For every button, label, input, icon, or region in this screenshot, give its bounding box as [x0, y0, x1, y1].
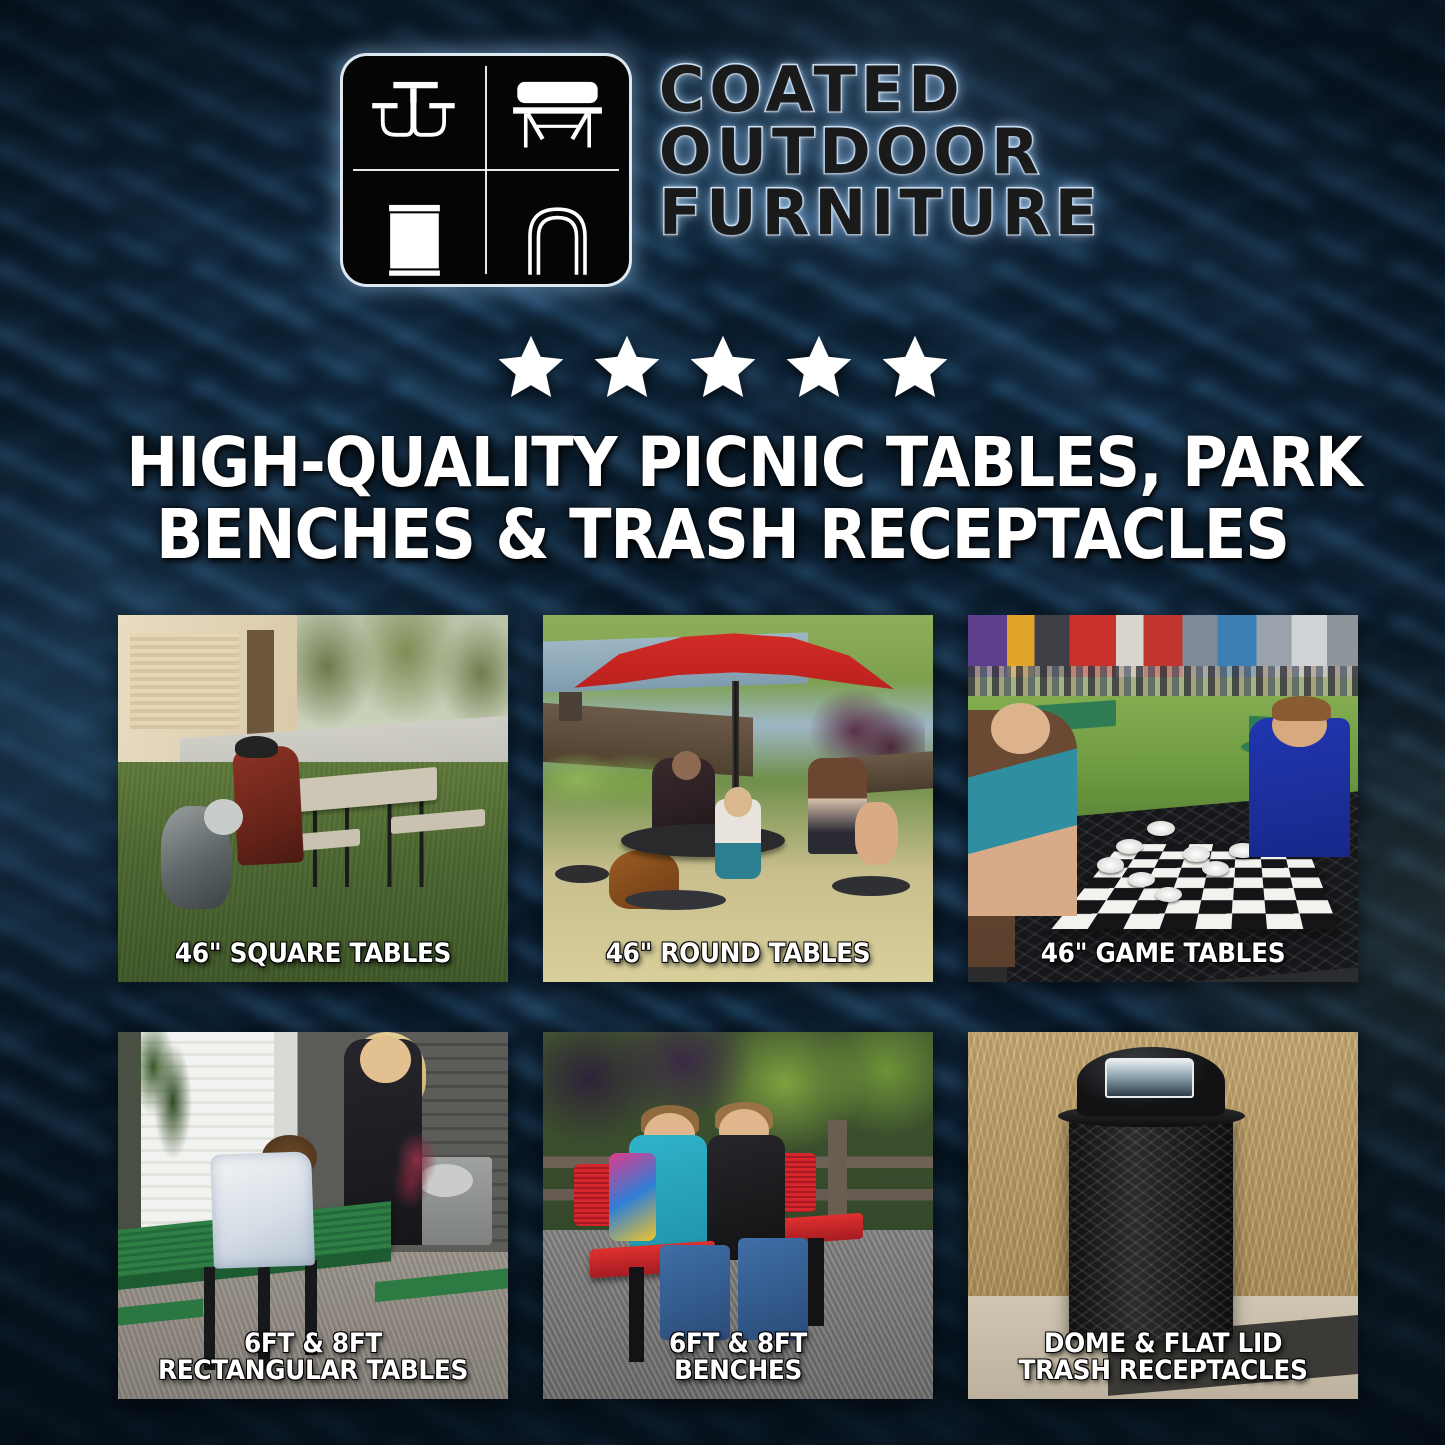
caption-line-1: 46" SQUARE TABLES — [139, 940, 487, 968]
trash-receptacle-icon — [343, 179, 486, 302]
product-tile-round-tables[interactable]: 46" ROUND TABLES — [543, 615, 933, 982]
product-caption: 46" SQUARE TABLES — [139, 940, 487, 968]
caption-line-1: 6FT & 8FT — [564, 1330, 912, 1358]
product-tile-rectangular-tables[interactable]: 6FT & 8FT RECTANGULAR TABLES — [118, 1032, 508, 1399]
product-caption: DOME & FLAT LID TRASH RECEPTACLES — [989, 1330, 1337, 1385]
star-icon — [591, 331, 663, 403]
rating-stars — [0, 331, 1445, 403]
star-icon — [783, 331, 855, 403]
product-tile-square-tables[interactable]: 46" SQUARE TABLES — [118, 615, 508, 982]
brand-logo: COATED OUTDOOR FURNITURE — [0, 56, 1445, 284]
product-photo-game-tables — [968, 615, 1358, 982]
caption-line-2: BENCHES — [564, 1357, 912, 1385]
caption-line-2: RECTANGULAR TABLES — [139, 1357, 487, 1385]
star-icon — [879, 331, 951, 403]
logo-word-furniture: FURNITURE — [659, 183, 1102, 243]
caption-line-1: DOME & FLAT LID — [989, 1330, 1337, 1358]
star-icon — [687, 331, 759, 403]
logo-wordmark: COATED OUTDOOR FURNITURE — [659, 56, 1102, 243]
product-tile-game-tables[interactable]: 46" GAME TABLES — [968, 615, 1358, 982]
product-caption: 46" GAME TABLES — [989, 940, 1337, 968]
caption-line-1: 46" GAME TABLES — [989, 940, 1337, 968]
product-caption: 6FT & 8FT RECTANGULAR TABLES — [139, 1330, 487, 1385]
bike-rack-arch-icon — [486, 179, 629, 302]
page-headline: HIGH-QUALITY PICNIC TABLES, PARK BENCHES… — [126, 428, 1319, 572]
product-photo-round-tables — [543, 615, 933, 982]
picnic-table-front-icon — [343, 56, 486, 179]
product-photo-square-tables — [118, 615, 508, 982]
caption-line-1: 46" ROUND TABLES — [564, 940, 912, 968]
picnic-table-side-icon — [486, 56, 629, 179]
product-caption: 46" ROUND TABLES — [564, 940, 912, 968]
logo-word-coated: COATED — [659, 60, 1102, 120]
caption-line-1: 6FT & 8FT — [139, 1330, 487, 1358]
caption-line-2: TRASH RECEPTACLES — [989, 1357, 1337, 1385]
product-tile-benches[interactable]: 6FT & 8FT BENCHES — [543, 1032, 933, 1399]
product-grid: 46" SQUARE TABLES — [118, 615, 1328, 1399]
product-caption: 6FT & 8FT BENCHES — [564, 1330, 912, 1385]
logo-icon-grid — [343, 56, 629, 284]
headline-line-2: BENCHES & TRASH RECEPTACLES — [126, 500, 1319, 572]
logo-word-outdoor: OUTDOOR — [659, 122, 1102, 182]
headline-line-1: HIGH-QUALITY PICNIC TABLES, PARK — [126, 428, 1319, 500]
star-icon — [495, 331, 567, 403]
product-tile-trash-receptacles[interactable]: DOME & FLAT LID TRASH RECEPTACLES — [968, 1032, 1358, 1399]
